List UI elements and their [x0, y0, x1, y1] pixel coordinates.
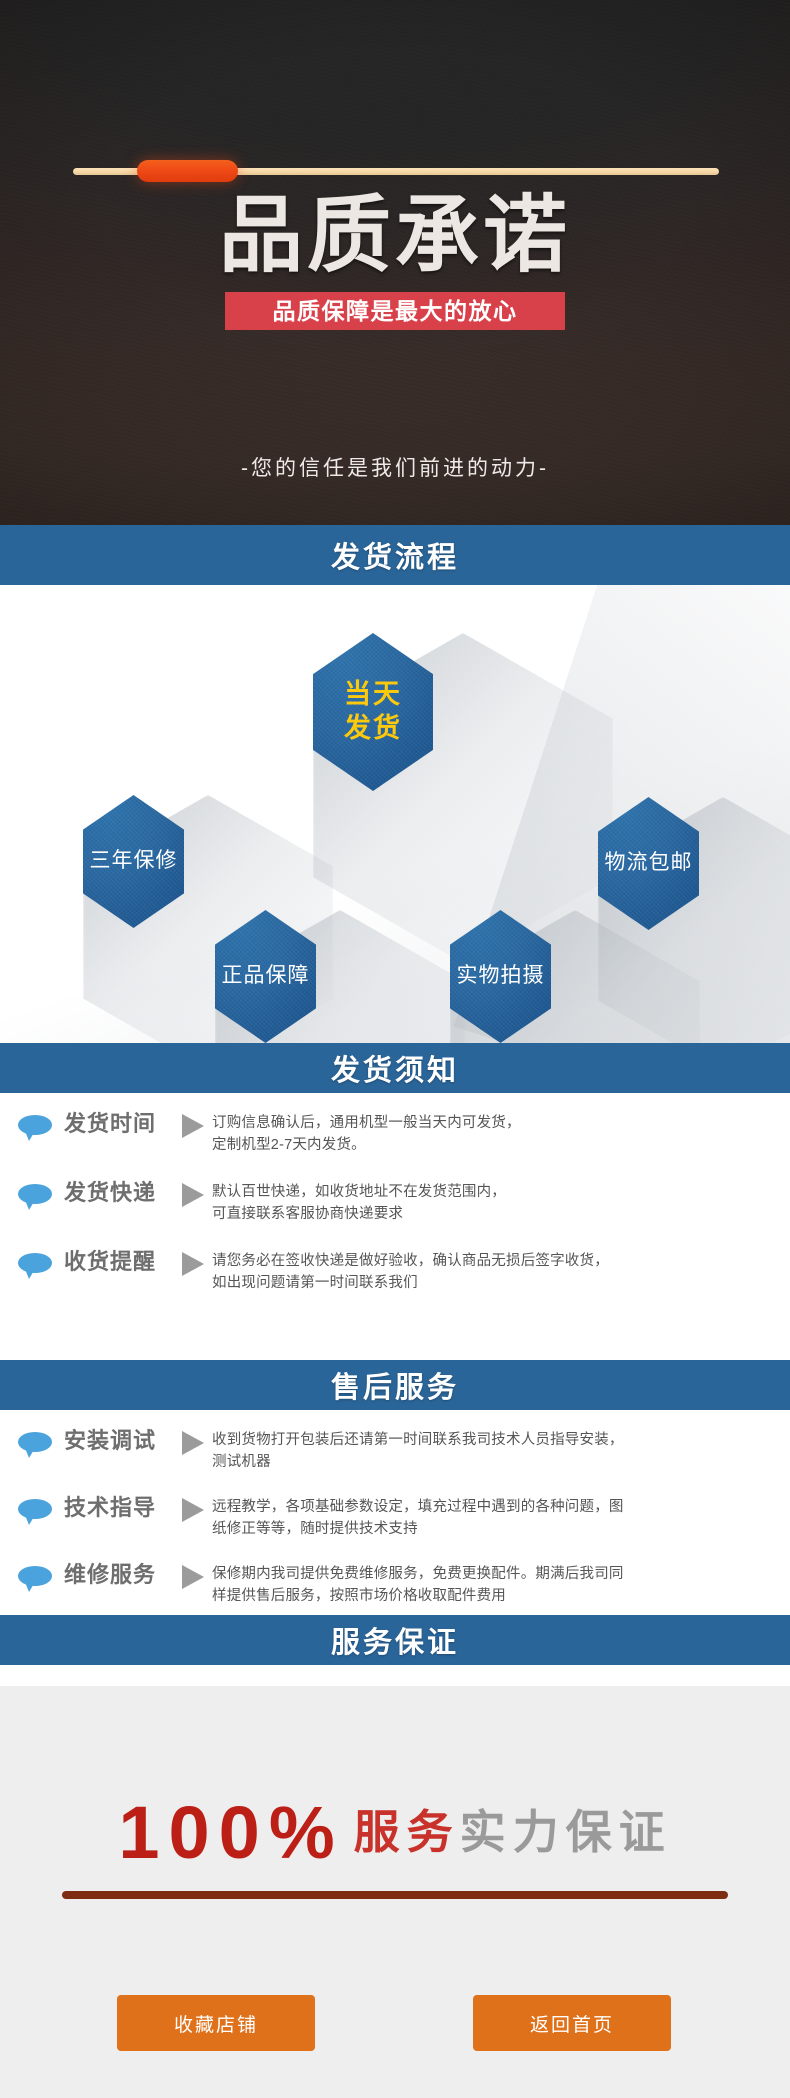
hexagon-main-line1: 当天 [344, 679, 402, 709]
list-item-text: 默认百世快递，如收货地址不在发货范围内， 可直接联系客服协商快递要求 [212, 1178, 790, 1225]
list-item-label: 安装调试 [64, 1426, 182, 1456]
section-heading-service-guarantee: 服务保证 [0, 1615, 790, 1665]
list-item-text-line: 可直接联系客服协商快递要求 [212, 1203, 776, 1225]
section-heading-after-sales: 售后服务 [0, 1360, 790, 1410]
speech-bubble-icon [18, 1566, 54, 1592]
list-item-text: 远程教学，各项基础参数设定，填充过程中遇到的各种问题，图 纸修正等等，随时提供技… [212, 1493, 790, 1540]
list-item: 发货快递 默认百世快递，如收货地址不在发货范围内， 可直接联系客服协商快递要求 [0, 1178, 790, 1225]
list-item-text-line: 请您务必在签收快递是做好验收，确认商品无损后签字收货， [212, 1250, 776, 1272]
triangle-icon [182, 1498, 204, 1522]
triangle-icon [182, 1114, 204, 1138]
list-item-text: 订购信息确认后，通用机型一般当天内可发货， 定制机型2-7天内发货。 [212, 1109, 790, 1156]
product-detail-page: 品质承诺 品质保障是最大的放心 -您的信任是我们前进的动力- 发货流程 当天发货… [0, 0, 790, 2098]
hexagon-main-line2: 发货 [344, 713, 402, 743]
speech-bubble-icon [18, 1115, 54, 1141]
shipping-notice-list: 发货时间 订购信息确认后，通用机型一般当天内可发货， 定制机型2-7天内发货。 … [0, 1103, 790, 1353]
triangle-icon [182, 1565, 204, 1589]
section-heading-shipping-flow: 发货流程 [0, 525, 790, 585]
list-item-text-line: 纸修正等等，随时提供技术支持 [212, 1518, 776, 1540]
hero-tagline: -您的信任是我们前进的动力- [0, 452, 790, 482]
triangle-icon [182, 1431, 204, 1455]
list-item-text: 保修期内我司提供免费维修服务，免费更换配件。期满后我司同 样提供售后服务，按照市… [212, 1560, 790, 1607]
list-item: 技术指导 远程教学，各项基础参数设定，填充过程中遇到的各种问题，图 纸修正等等，… [0, 1493, 790, 1540]
list-item-label: 维修服务 [64, 1560, 182, 1590]
hero-banner: 品质承诺 品质保障是最大的放心 -您的信任是我们前进的动力- [0, 0, 790, 525]
speech-bubble-icon [18, 1253, 54, 1279]
triangle-icon [182, 1252, 204, 1276]
section-heading-shipping-notice: 发货须知 [0, 1043, 790, 1093]
list-item-text-line: 测试机器 [212, 1451, 776, 1473]
guarantee-headline: 100%服务实力保证 [0, 1790, 790, 1875]
back-to-home-button[interactable]: 返回首页 [473, 1995, 671, 2051]
hexagon-label: 三年保修 [90, 849, 178, 873]
page-title: 品质承诺 [0, 183, 790, 287]
list-item-text-line: 保修期内我司提供免费维修服务，免费更换配件。期满后我司同 [212, 1563, 776, 1585]
list-item-text-line: 订购信息确认后，通用机型一般当天内可发货， [212, 1112, 776, 1134]
list-item-text: 收到货物打开包装后还请第一时间联系我司技术人员指导安装， 测试机器 [212, 1426, 790, 1473]
guarantee-highlight: 服务 [354, 1806, 460, 1858]
list-item-text-line: 默认百世快递，如收货地址不在发货范围内， [212, 1181, 776, 1203]
hexagon-label: 实物拍摄 [457, 964, 545, 988]
hexagon-label: 物流包邮 [605, 851, 693, 875]
list-item-text-line: 定制机型2-7天内发货。 [212, 1134, 776, 1156]
list-item-text: 请您务必在签收快递是做好验收，确认商品无损后签字收货， 如出现问题请第一时间联系… [212, 1247, 790, 1294]
hexagon-feature-group: 当天发货 三年保修 正品保障 实物拍摄 物流包邮 [0, 585, 790, 1043]
guarantee-rest: 实力保证 [460, 1806, 672, 1858]
divider-rule [62, 1891, 728, 1899]
speech-bubble-icon [18, 1184, 54, 1210]
decorative-orange-pill [137, 160, 238, 182]
list-item: 收货提醒 请您务必在签收快递是做好验收，确认商品无损后签字收货， 如出现问题请第… [0, 1247, 790, 1294]
list-item-label: 发货时间 [64, 1109, 182, 1139]
list-item-text-line: 如出现问题请第一时间联系我们 [212, 1272, 776, 1294]
list-item-text-line: 样提供售后服务，按照市场价格收取配件费用 [212, 1585, 776, 1607]
hexagon-main-label: 当天发货 [344, 678, 402, 746]
list-item-text-line: 收到货物打开包装后还请第一时间联系我司技术人员指导安装， [212, 1429, 776, 1451]
hero-subtitle-banner: 品质保障是最大的放心 [225, 292, 565, 330]
list-item-label: 收货提醒 [64, 1247, 182, 1277]
list-item-label: 发货快递 [64, 1178, 182, 1208]
hexagon-label: 正品保障 [222, 964, 310, 988]
footer-button-group: 收藏店铺 返回首页 [0, 1995, 790, 2081]
favorite-store-button[interactable]: 收藏店铺 [117, 1995, 315, 2051]
list-item-text-line: 远程教学，各项基础参数设定，填充过程中遇到的各种问题，图 [212, 1496, 776, 1518]
guarantee-percent: 100% [118, 1791, 343, 1874]
list-item: 发货时间 订购信息确认后，通用机型一般当天内可发货， 定制机型2-7天内发货。 [0, 1109, 790, 1156]
list-item-label: 技术指导 [64, 1493, 182, 1523]
triangle-icon [182, 1183, 204, 1207]
speech-bubble-icon [18, 1432, 54, 1458]
list-item: 安装调试 收到货物打开包装后还请第一时间联系我司技术人员指导安装， 测试机器 [0, 1426, 790, 1473]
speech-bubble-icon [18, 1499, 54, 1525]
list-item: 维修服务 保修期内我司提供免费维修服务，免费更换配件。期满后我司同 样提供售后服… [0, 1560, 790, 1607]
